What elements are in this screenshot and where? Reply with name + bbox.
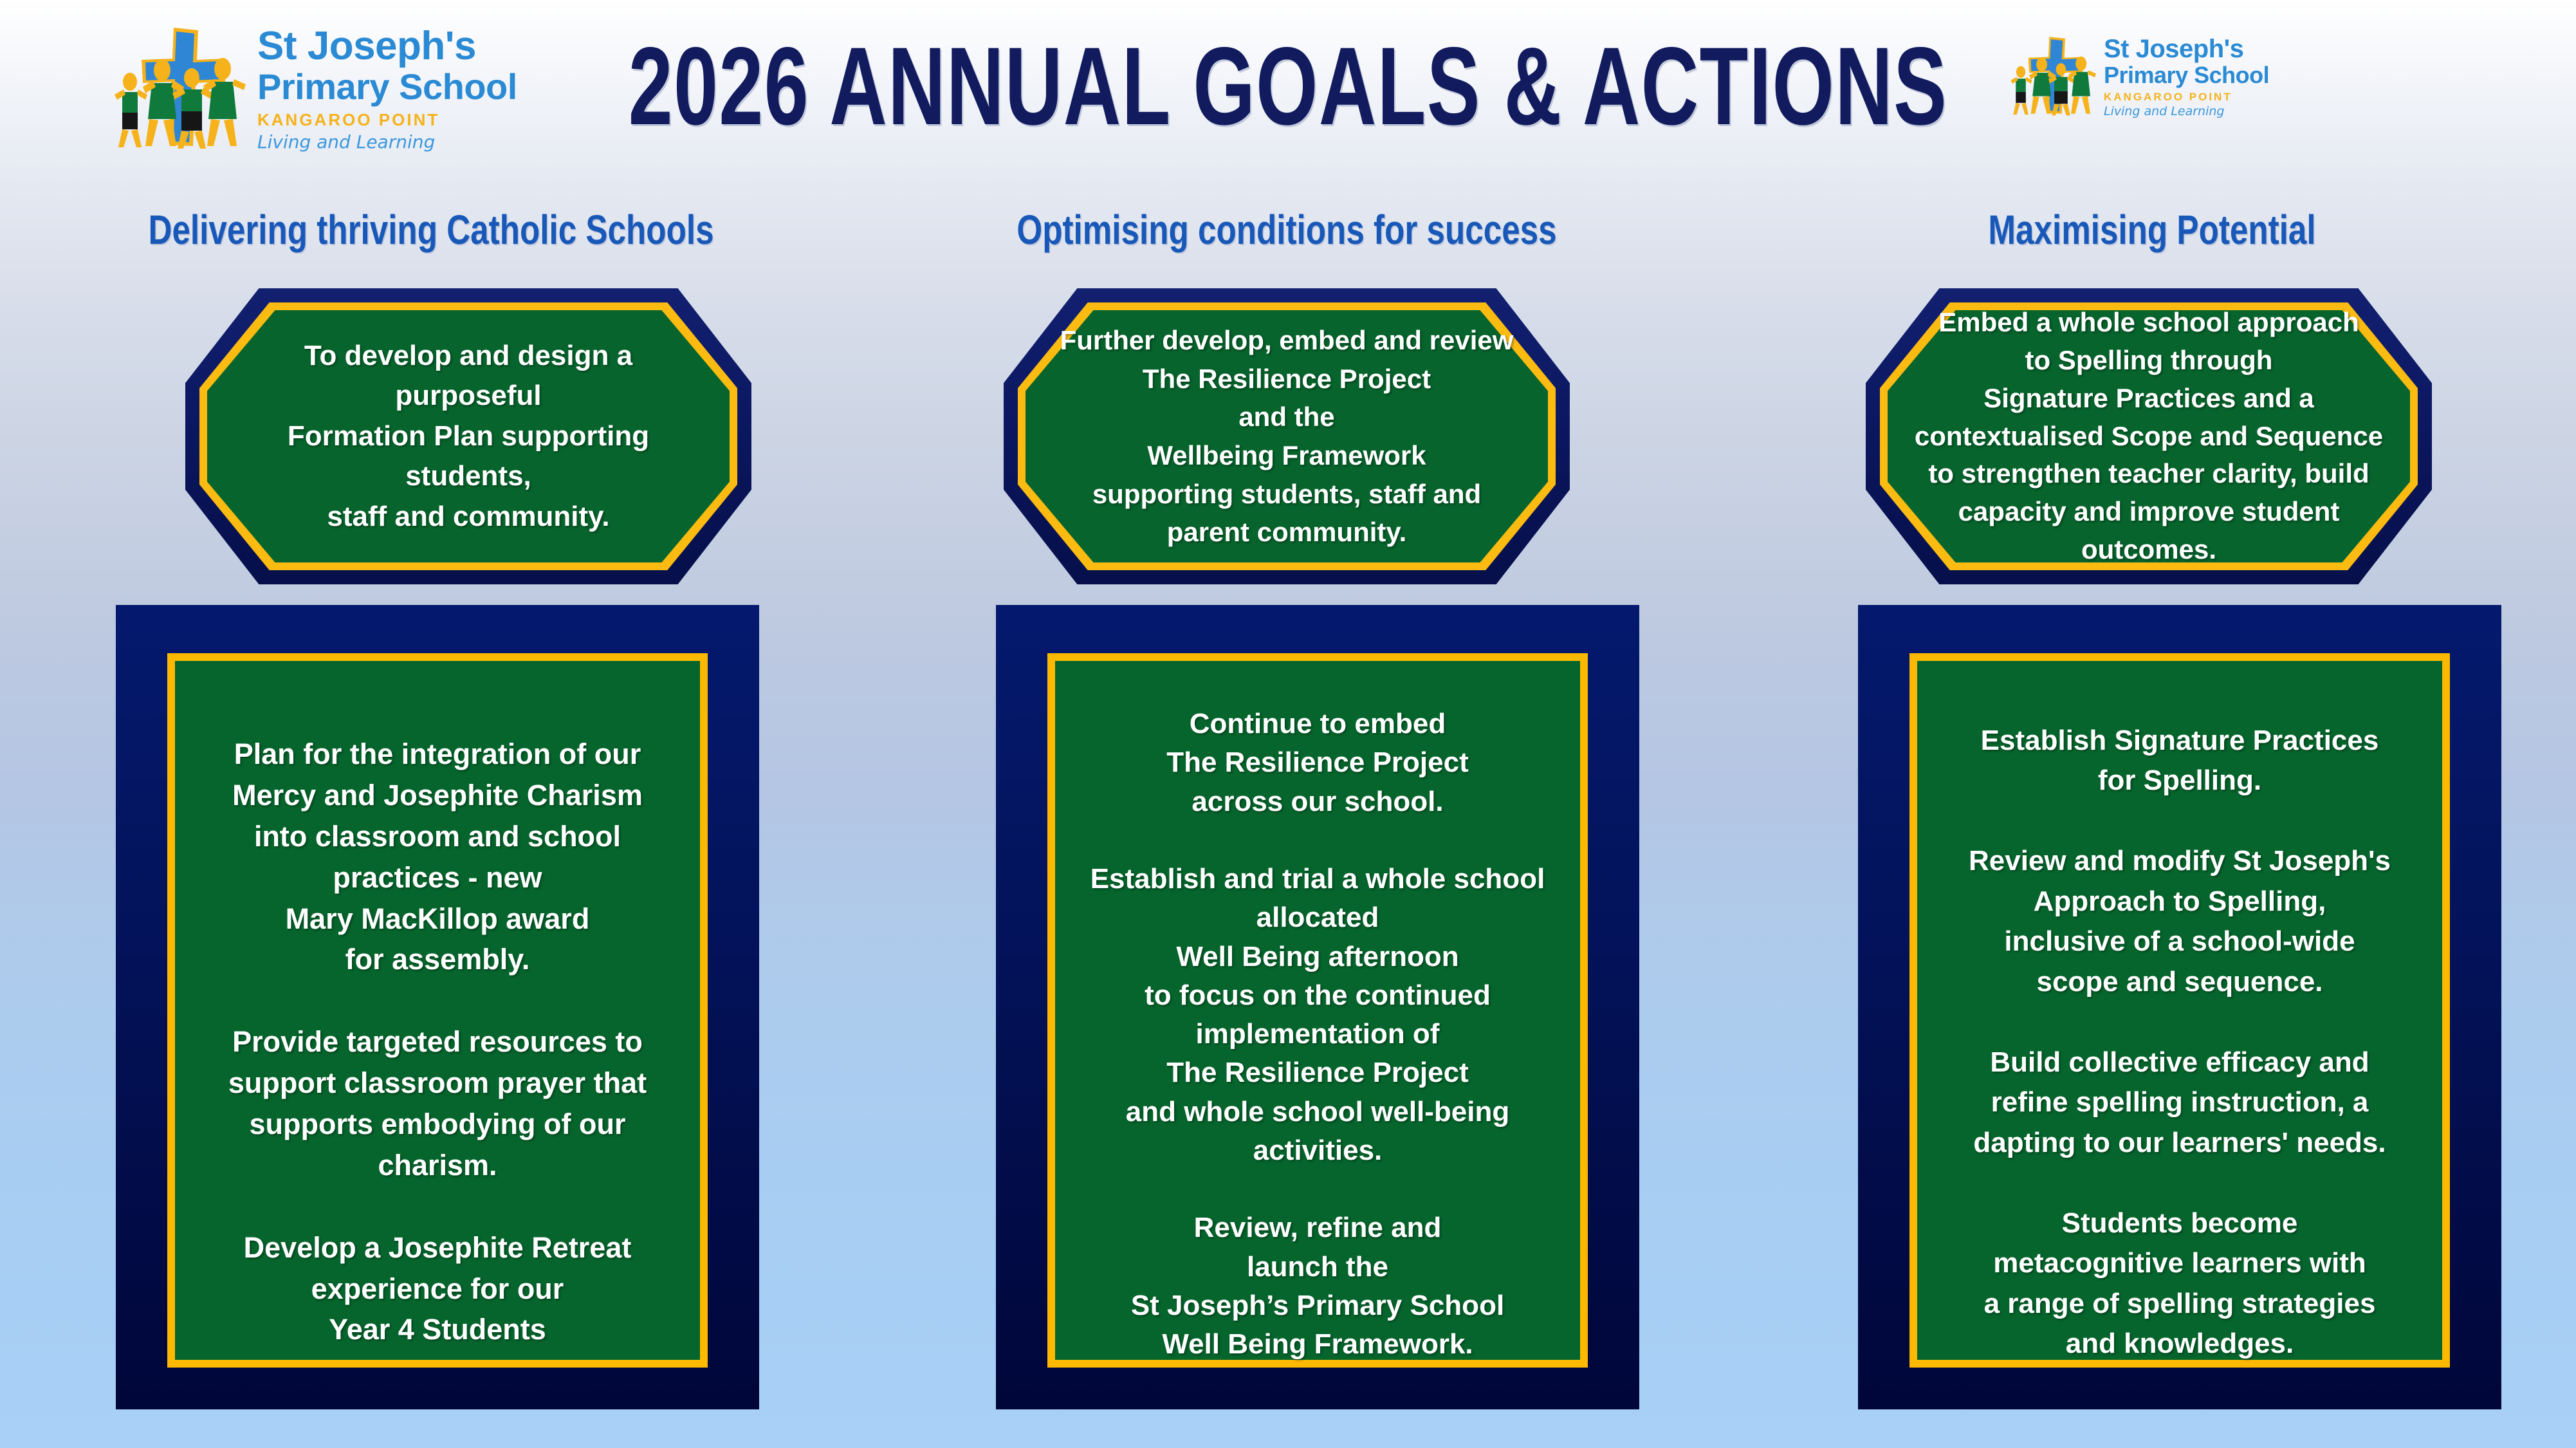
action-text-1: Plan for the integration of our Mercy an… [116, 605, 759, 1350]
goal-octagon-3: Embed a whole school approach to Spellin… [1866, 288, 2432, 584]
column-heading-delivering-thriving-catholic-schools: Delivering thriving Catholic Schools [86, 209, 776, 250]
logo-line-2: Primary School [2104, 64, 2269, 87]
goal-octagon-2: Further develop, embed and review The Re… [1004, 288, 1570, 584]
action-panel-1: Plan for the integration of our Mercy an… [116, 605, 759, 1409]
goal-text-1: To develop and design a purposeful Forma… [185, 288, 751, 584]
action-text-2: Continue to embed The Resilience Project… [996, 605, 1639, 1364]
column-heading-maximising-potential: Maximising Potential [1815, 209, 2489, 250]
page-title: 2026 ANNUAL GOALS & ACTIONS [361, 31, 2216, 142]
goal-text-3: Embed a whole school approach to Spellin… [1866, 288, 2432, 584]
action-panel-3: Establish Signature Practices for Spelli… [1858, 605, 2501, 1409]
column-heading-optimising-conditions-for-success: Optimising conditions for success [947, 209, 1626, 250]
logo-line-3: KANGAROO POINT [2104, 91, 2269, 102]
goal-text-2: Further develop, embed and review The Re… [1004, 288, 1570, 584]
goal-octagon-1: To develop and design a purposeful Forma… [185, 288, 751, 584]
school-logo-right: St Joseph's Primary School KANGAROO POIN… [2007, 33, 2269, 120]
cross-with-children-logo-icon [2007, 33, 2104, 120]
logo-line-4: Living and Learning [2104, 106, 2269, 118]
logo-line-1: St Joseph's [2104, 36, 2269, 62]
page-header: St Joseph's Primary School KANGAROO POIN… [0, 0, 2576, 193]
cross-with-children-logo-icon [109, 23, 257, 154]
school-logo-right-text: St Joseph's Primary School KANGAROO POIN… [2104, 36, 2269, 118]
action-text-3: Establish Signature Practices for Spelli… [1858, 605, 2501, 1364]
action-panel-2: Continue to embed The Resilience Project… [996, 605, 1639, 1409]
